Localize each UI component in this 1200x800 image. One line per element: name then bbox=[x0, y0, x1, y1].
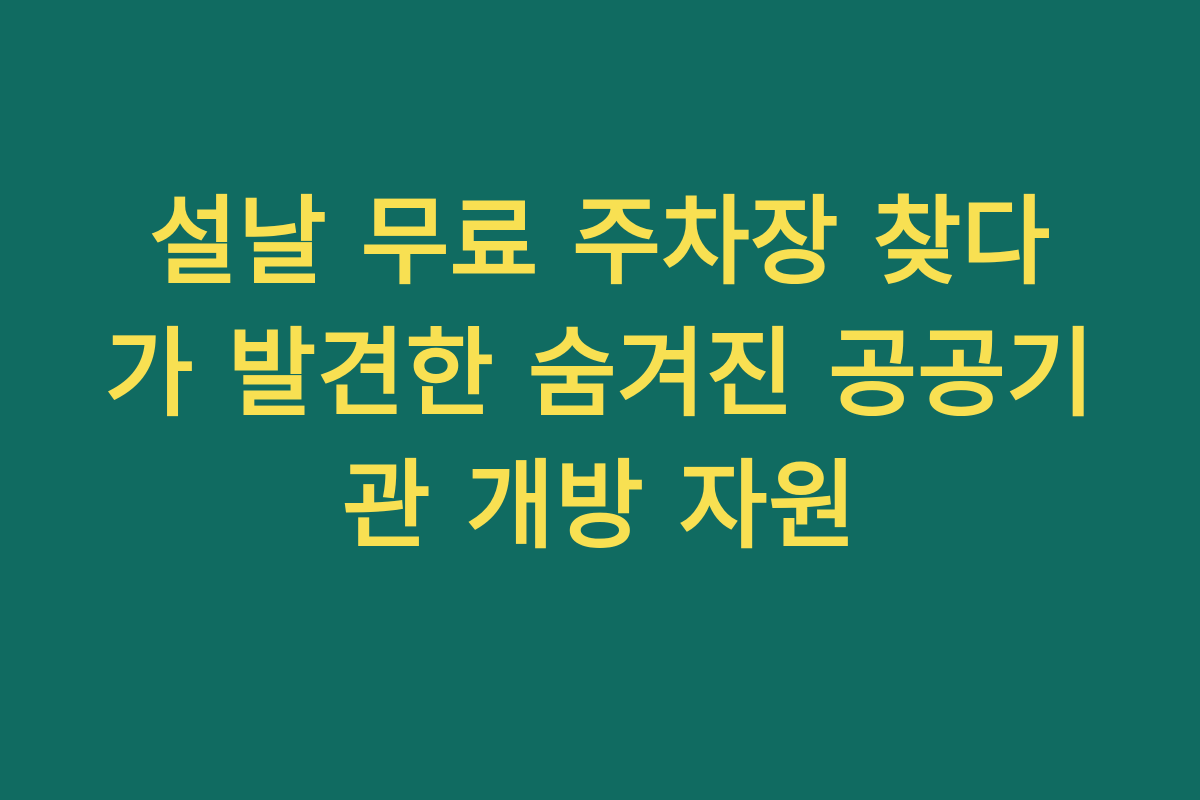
text-card: 설날 무료 주차장 찾다 가 발견한 숨겨진 공공기 관 개방 자원 bbox=[0, 0, 1200, 800]
headline-line-1: 설날 무료 주차장 찾다 bbox=[70, 176, 1130, 308]
headline-line-3: 관 개방 자원 bbox=[70, 440, 1130, 572]
headline-text: 설날 무료 주차장 찾다 가 발견한 숨겨진 공공기 관 개방 자원 bbox=[70, 176, 1130, 572]
headline-line-2: 가 발견한 숨겨진 공공기 bbox=[70, 308, 1130, 440]
